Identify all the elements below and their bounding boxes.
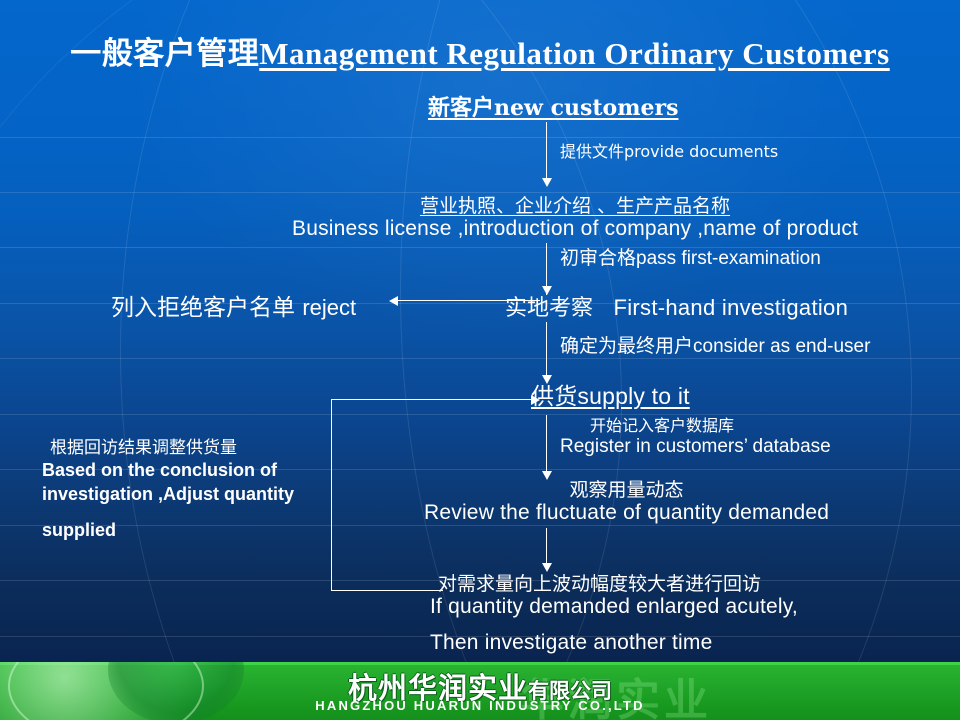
loop-top-segment <box>331 399 533 400</box>
node-investigation-cn: 实地考察 <box>505 296 593 321</box>
sidebox-adjust-en-line2: investigation ,Adjust quantity <box>42 483 342 507</box>
slide-canvas: 一般客户管理Management Regulation Ordinary Cus… <box>0 0 960 720</box>
node-revisit: 对需求量向上波动幅度较大者进行回访 If quantity demanded e… <box>430 574 798 654</box>
background-hline <box>0 192 960 193</box>
edge-label-consider-end-user-text: 确定为最终用户consider as end-user <box>560 336 870 357</box>
background-hline <box>0 414 960 415</box>
sidebox-adjust-cn: 根据回访结果调整供货量 <box>42 437 342 459</box>
sidebox-adjust-quantity: 根据回访结果调整供货量 Based on the conclusion of i… <box>42 437 342 543</box>
footer-company-name-en: HANGZHOU HUARUN INDUSTRY CO.,LTD <box>0 698 960 713</box>
background-hline <box>0 137 960 138</box>
edge-label-provide-documents-cn: 提供文件provide documents <box>560 142 778 161</box>
node-revisit-en-line1: If quantity demanded enlarged acutely, <box>430 595 798 619</box>
sidebox-adjust-en-line1: Based on the conclusion of <box>42 459 342 483</box>
edge-label-register-cn: 开始记入客户数据库 <box>560 417 831 436</box>
slide-title-english: Management Regulation Ordinary Customers <box>259 36 889 71</box>
edge-label-pass-first-examination: 初审合格pass first-examination <box>560 248 821 270</box>
node-revisit-cn: 对需求量向上波动幅度较大者进行回访 <box>430 574 798 595</box>
slide-title-chinese: 一般客户管理 <box>70 36 259 72</box>
sidebox-adjust-en-line3: supplied <box>42 519 342 543</box>
arrowhead-left-reject <box>389 296 398 306</box>
connector-new-to-documents <box>546 122 547 182</box>
arrowhead-down-review <box>542 471 552 480</box>
node-revisit-en-line2: Then investigate another time <box>430 631 798 655</box>
edge-label-register: 开始记入客户数据库 Register in customers’ databas… <box>560 417 831 458</box>
node-documents-en: Business license ,introduction of compan… <box>292 217 858 241</box>
node-review: 观察用量动态 Review the fluctuate of quantity … <box>424 480 829 525</box>
node-supply: 供货supply to it <box>531 384 690 410</box>
node-new-customers: 新客户new customers <box>428 96 678 121</box>
node-reject: 列入拒绝客户名单 reject <box>111 288 356 322</box>
node-investigation-en: First-hand investigation <box>613 295 848 320</box>
node-documents-cn: 营业执照、企业介绍 、生产产品名称 <box>292 196 858 217</box>
connector-supply-to-review <box>546 415 547 477</box>
connector-investigation-to-supply <box>546 322 547 382</box>
edge-label-pass-first-examination-text: 初审合格pass first-examination <box>560 248 821 269</box>
node-reject-cn: 列入拒绝客户名单 <box>111 295 295 321</box>
node-review-cn: 观察用量动态 <box>424 480 829 501</box>
node-investigation: 实地考察 First-hand investigation <box>505 290 848 322</box>
node-supply-text: 供货supply to it <box>531 383 690 409</box>
slide-title: 一般客户管理Management Regulation Ordinary Cus… <box>0 28 960 73</box>
loop-bottom-segment <box>331 590 443 591</box>
node-documents: 营业执照、企业介绍 、生产产品名称 Business license ,intr… <box>292 196 858 241</box>
edge-label-provide-documents: 提供文件provide documents <box>560 143 778 163</box>
footer-banner: 华润实业 杭州华润实业有限公司 HANGZHOU HUARUN INDUSTRY… <box>0 662 960 720</box>
node-review-en: Review the fluctuate of quantity demande… <box>424 501 829 525</box>
node-reject-en: reject <box>302 295 356 320</box>
edge-label-consider-end-user: 确定为最终用户consider as end-user <box>560 336 870 358</box>
edge-label-register-en: Register in customers’ database <box>560 436 831 458</box>
arrowhead-down-documents <box>542 178 552 187</box>
arrowhead-down-revisit <box>542 563 552 572</box>
